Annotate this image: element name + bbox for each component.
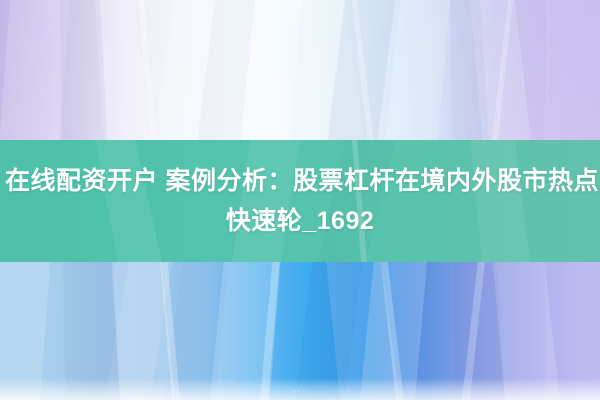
- banner-title-line-1: 在线配资开户 案例分析：股票杠杆在境内外股市热点: [0, 161, 600, 201]
- banner-image: 在线配资开户 案例分析：股票杠杆在境内外股市热点 快速轮_1692 ···: [0, 0, 600, 400]
- banner-title-line-2: 快速轮_1692: [0, 201, 600, 241]
- banner-title: 在线配资开户 案例分析：股票杠杆在境内外股市热点 快速轮_1692: [0, 140, 600, 262]
- background-bottom-panel: [0, 262, 600, 400]
- title-band: 在线配资开户 案例分析：股票杠杆在境内外股市热点 快速轮_1692: [0, 140, 600, 262]
